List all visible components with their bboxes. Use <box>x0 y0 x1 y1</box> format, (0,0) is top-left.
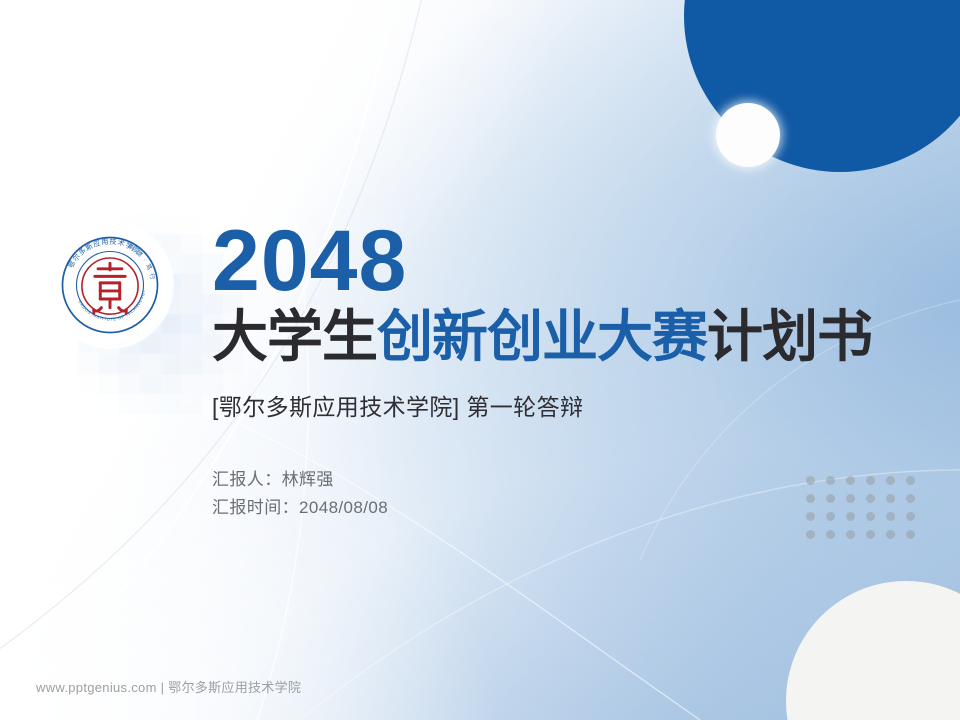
mosaic-cell <box>181 394 202 414</box>
mosaic-cell <box>119 354 140 374</box>
mosaic-cell <box>181 214 202 234</box>
headline-tail: 计划书 <box>707 305 872 368</box>
mosaic-cell <box>181 274 202 294</box>
presentation-slide: 鄂尔多斯应用技术学院 明 德 · 笃 行 ORDOS INSTITUTE OF … <box>0 0 960 720</box>
grid-dot <box>846 530 855 539</box>
headline-highlight: 创新创业大赛 <box>377 305 707 368</box>
mosaic-cell <box>140 394 161 414</box>
mosaic-cell <box>78 374 99 394</box>
headline-lead: 大学生 <box>212 305 377 368</box>
mosaic-cell <box>181 234 202 254</box>
mosaic-cell <box>99 374 120 394</box>
grid-dot <box>886 530 895 539</box>
grid-dot <box>806 530 815 539</box>
presenter-line: 汇报人：林辉强 <box>212 466 912 494</box>
mosaic-cell <box>161 354 182 374</box>
mosaic-cell <box>119 374 140 394</box>
mosaic-cell <box>119 394 140 414</box>
mosaic-cell <box>140 374 161 394</box>
footer-text: www.pptgenius.com | 鄂尔多斯应用技术学院 <box>36 677 301 696</box>
mosaic-cell <box>181 254 202 274</box>
mosaic-cell <box>78 394 99 414</box>
title-block: 2048 大学生创新创业大赛计划书 [鄂尔多斯应用技术学院] 第一轮答辩 汇报人… <box>212 222 912 522</box>
presentation-meta: 汇报人：林辉强 汇报时间：2048/08/08 <box>212 466 912 521</box>
decorative-white-circle <box>716 103 780 167</box>
mosaic-cell <box>161 394 182 414</box>
grid-dot <box>906 530 915 539</box>
mosaic-cell <box>161 374 182 394</box>
grid-dot <box>866 530 875 539</box>
university-logo-icon: 鄂尔多斯应用技术学院 明 德 · 笃 行 ORDOS INSTITUTE OF … <box>56 231 164 339</box>
year-number: 2048 <box>212 222 912 301</box>
subtitle: [鄂尔多斯应用技术学院] 第一轮答辩 <box>212 388 912 422</box>
mosaic-cell <box>140 354 161 374</box>
mosaic-cell <box>78 354 99 374</box>
mosaic-cell <box>181 294 202 314</box>
mosaic-cell <box>181 374 202 394</box>
mosaic-cell <box>181 354 202 374</box>
mosaic-cell <box>181 334 202 354</box>
mosaic-cell <box>181 314 202 334</box>
headline: 大学生创新创业大赛计划书 <box>212 307 912 366</box>
mosaic-cell <box>99 354 120 374</box>
date-line: 汇报时间：2048/08/08 <box>212 494 912 522</box>
grid-dot <box>826 530 835 539</box>
mosaic-cell <box>99 394 120 414</box>
